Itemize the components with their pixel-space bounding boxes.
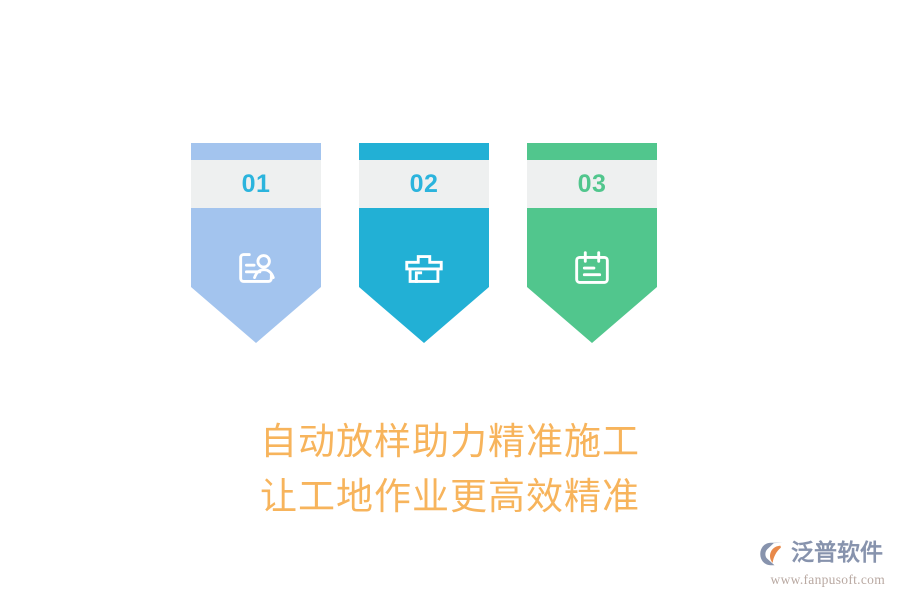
headline-block: 自动放样助力精准施工 让工地作业更高效精准 (0, 414, 900, 524)
fanpu-logo-mark-icon (758, 539, 788, 569)
id-card-person-icon (191, 238, 321, 298)
ribbon-card-02[interactable]: 02 (359, 143, 489, 343)
ribbon-number-band-01: 01 (191, 160, 321, 208)
ribbon-group: 01 02 (191, 143, 657, 345)
ribbon-number-band-03: 03 (527, 160, 657, 208)
calendar-notes-icon (527, 238, 657, 298)
poster-canvas: 01 02 (0, 0, 900, 600)
logo-website-url: www.fanpusoft.com (758, 573, 886, 587)
ribbon-number-01: 01 (242, 172, 271, 197)
ribbon-number-02: 02 (410, 172, 439, 197)
headline-line-2: 让工地作业更高效精准 (0, 469, 900, 524)
logo-brand-name: 泛普软件 (791, 542, 883, 565)
ribbon-card-01[interactable]: 01 (191, 143, 321, 343)
brand-logo[interactable]: 泛普软件 www.fanpusoft.com (758, 538, 886, 588)
headline-line-1: 自动放样助力精准施工 (0, 414, 900, 469)
storefront-shop-icon (359, 238, 489, 298)
ribbon-number-band-02: 02 (359, 160, 489, 208)
ribbon-number-03: 03 (578, 172, 607, 197)
logo-top-row: 泛普软件 (758, 538, 886, 569)
ribbon-card-03[interactable]: 03 (527, 143, 657, 343)
